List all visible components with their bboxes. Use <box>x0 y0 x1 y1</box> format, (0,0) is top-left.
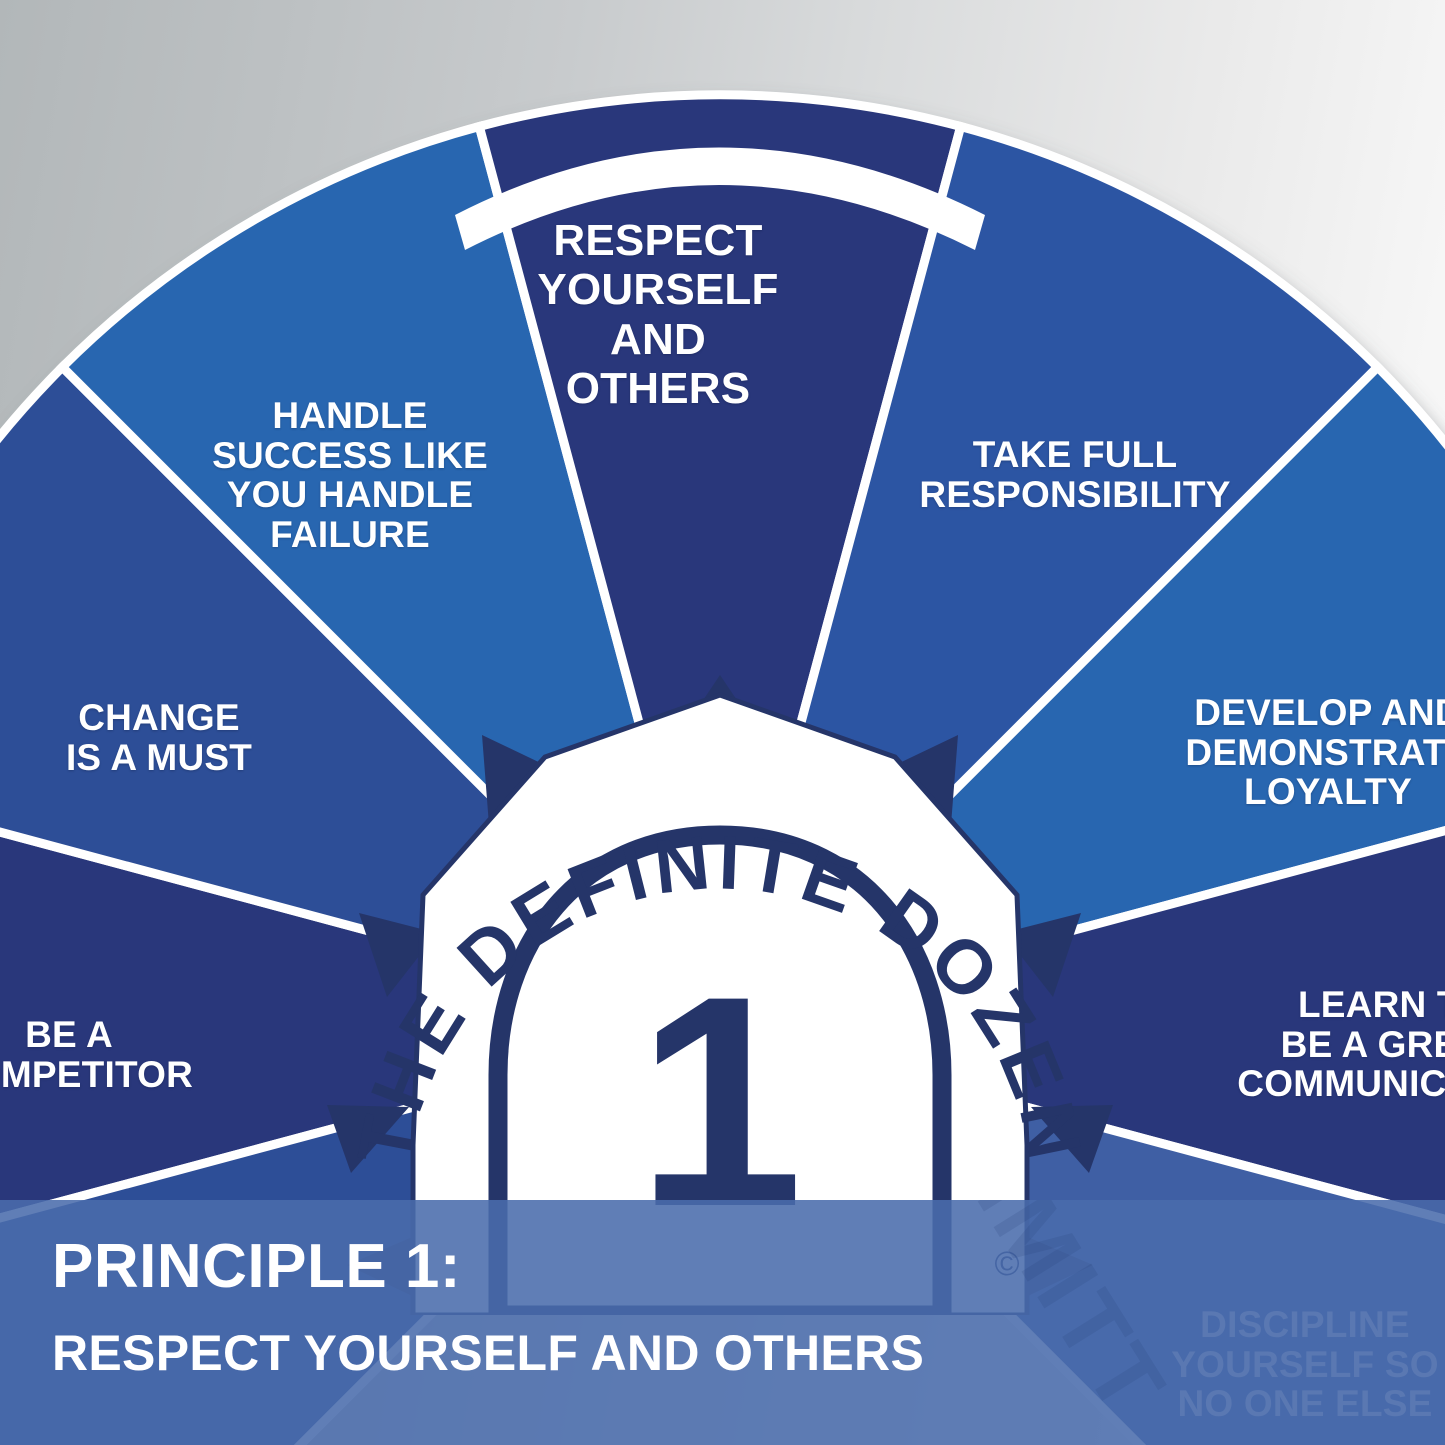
poster-canvas: RESPECT YOURSELF AND OTHERS HANDLE SUCCE… <box>0 0 1445 1445</box>
principle-banner: SUMMITT PRINCIPLE 1: RESPECT YOURSELF AN… <box>0 1200 1445 1445</box>
principle-title: RESPECT YOURSELF AND OTHERS <box>52 1328 924 1378</box>
principle-number-label: PRINCIPLE 1: <box>52 1236 924 1298</box>
banner-text-block: PRINCIPLE 1: RESPECT YOURSELF AND OTHERS <box>52 1236 924 1378</box>
